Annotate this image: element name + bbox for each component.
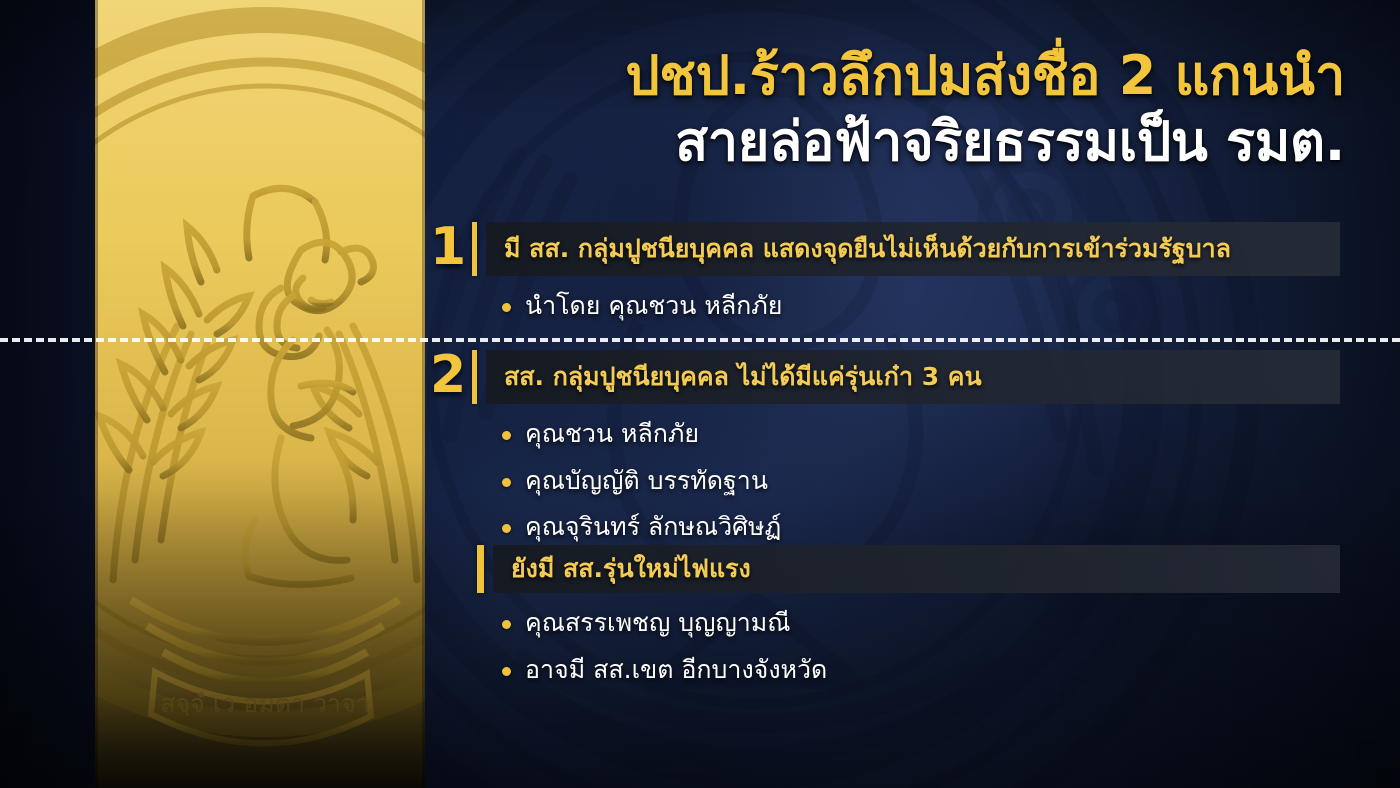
section-1: 1 มี สส. กลุ่มปูชนียบุคคล แสดงจุดยืนไม่เ… <box>430 222 1340 323</box>
bullet-text: อาจมี สส.เขต อีกบางจังหวัด <box>525 654 827 687</box>
bullet-dot-icon <box>502 431 511 440</box>
list-item: คุณบัญญัติ บรรทัดฐาน <box>430 465 1340 498</box>
section-1-header: 1 มี สส. กลุ่มปูชนียบุคคล แสดงจุดยืนไม่เ… <box>430 222 1340 276</box>
section-1-title: มี สส. กลุ่มปูชนียบุคคล แสดงจุดยืนไม่เห็… <box>504 229 1231 269</box>
bullet-text: คุณชวน หลีกภัย <box>525 418 699 451</box>
bullet-dot-icon <box>502 667 511 676</box>
section-2-title: สส. กลุ่มปูชนียบุคคล ไม่ได้มีแค่รุ่นเก๋า… <box>504 357 982 397</box>
headline: ปชป.ร้าวลึกปมส่งชื่อ 2 แกนนำ สายล่อฟ้าจร… <box>430 46 1345 173</box>
headline-line-1: ปชป.ร้าวลึกปมส่งชื่อ 2 แกนนำ <box>430 46 1345 106</box>
bullet-text: คุณจุรินทร์ ลักษณวิศิษฏ์ <box>525 511 781 544</box>
subsection-accent-bar <box>477 545 484 593</box>
section-2-title-bar: สส. กลุ่มปูชนียบุคคล ไม่ได้มีแค่รุ่นเก๋า… <box>486 350 1340 404</box>
section-1-accent-bar <box>472 222 477 276</box>
section-2-number: 2 <box>430 350 472 404</box>
section-1-title-bar: มี สส. กลุ่มปูชนียบุคคล แสดงจุดยืนไม่เห็… <box>486 222 1340 276</box>
subsection: ยังมี สส.รุ่นใหม่ไฟแรง คุณสรรเพชญ บุญญาม… <box>430 545 1340 686</box>
subsection-bullet-list: คุณสรรเพชญ บุญญามณี อาจมี สส.เขต อีกบางจ… <box>430 607 1340 686</box>
section-2-header: 2 สส. กลุ่มปูชนียบุคคล ไม่ได้มีแค่รุ่นเก… <box>430 350 1340 404</box>
headline-line-2: สายล่อฟ้าจริยธรรมเป็น รมต. <box>430 112 1345 172</box>
list-item: คุณจุรินทร์ ลักษณวิศิษฏ์ <box>430 511 1340 544</box>
subsection-title-bar: ยังมี สส.รุ่นใหม่ไฟแรง <box>493 545 1340 593</box>
infographic-canvas: สจฺจํ เว อมตา วาจา ปชป.ร้าวลึกปมส่งชื่อ … <box>0 0 1400 788</box>
bullet-text: คุณบัญญัติ บรรทัดฐาน <box>525 465 768 498</box>
list-item: คุณสรรเพชญ บุญญามณี <box>430 607 1340 640</box>
list-item: นำโดย คุณชวน หลีกภัย <box>430 290 1340 323</box>
bullet-text: นำโดย คุณชวน หลีกภัย <box>525 290 782 323</box>
section-2-accent-bar <box>472 350 477 404</box>
bullet-dot-icon <box>502 620 511 629</box>
section-2-bullet-list: คุณชวน หลีกภัย คุณบัญญัติ บรรทัดฐาน คุณจ… <box>430 418 1340 544</box>
bullet-text: คุณสรรเพชญ บุญญามณี <box>525 607 790 640</box>
bullet-dot-icon <box>502 303 511 312</box>
section-divider <box>0 338 1400 342</box>
section-1-bullet-list: นำโดย คุณชวน หลีกภัย <box>430 290 1340 323</box>
list-item: อาจมี สส.เขต อีกบางจังหวัด <box>430 654 1340 687</box>
subsection-header: ยังมี สส.รุ่นใหม่ไฟแรง <box>430 545 1340 593</box>
content-column: ปชป.ร้าวลึกปมส่งชื่อ 2 แกนนำ สายล่อฟ้าจร… <box>0 0 1400 788</box>
list-item: คุณชวน หลีกภัย <box>430 418 1340 451</box>
section-2: 2 สส. กลุ่มปูชนียบุคคล ไม่ได้มีแค่รุ่นเก… <box>430 350 1340 544</box>
bullet-dot-icon <box>502 478 511 487</box>
section-1-number: 1 <box>430 222 472 276</box>
bullet-dot-icon <box>502 524 511 533</box>
subsection-title: ยังมี สส.รุ่นใหม่ไฟแรง <box>511 549 751 589</box>
